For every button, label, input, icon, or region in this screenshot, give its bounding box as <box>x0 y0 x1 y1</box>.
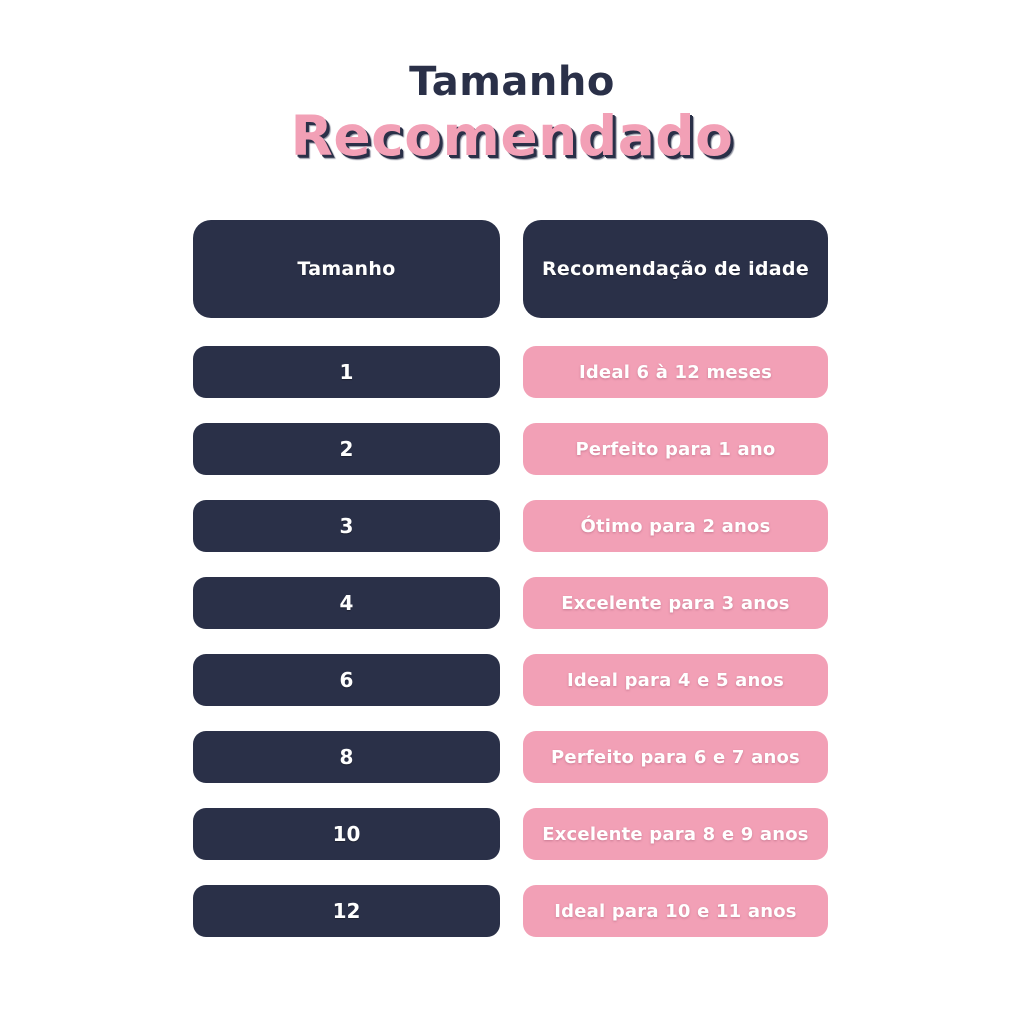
age-value: Excelente para 8 e 9 anos <box>542 824 808 845</box>
age-value: Ideal para 4 e 5 anos <box>567 670 784 691</box>
size-recommendation-table: Tamanho Recomendação de idade 1 Ideal 6 … <box>193 220 828 937</box>
table-row: 3 Ótimo para 2 anos <box>193 500 828 552</box>
size-value: 4 <box>340 591 354 615</box>
size-value: 10 <box>333 822 361 846</box>
age-value: Ideal 6 à 12 meses <box>579 362 772 383</box>
table-cell-size: 2 <box>193 423 500 475</box>
table-header-row: Tamanho Recomendação de idade <box>193 220 828 318</box>
table-cell-size: 3 <box>193 500 500 552</box>
age-value: Ideal para 10 e 11 anos <box>554 901 796 922</box>
table-cell-age: Perfeito para 1 ano <box>523 423 828 475</box>
title-line-secondary: Recomendado <box>0 106 1024 168</box>
table-cell-age: Excelente para 3 anos <box>523 577 828 629</box>
table-row: 8 Perfeito para 6 e 7 anos <box>193 731 828 783</box>
table-cell-age: Excelente para 8 e 9 anos <box>523 808 828 860</box>
size-guide-page: Tamanho Recomendado Tamanho Recomendação… <box>0 0 1024 1024</box>
table-cell-age: Ideal 6 à 12 meses <box>523 346 828 398</box>
size-value: 12 <box>333 899 361 923</box>
title-line-primary: Tamanho <box>0 62 1024 102</box>
size-value: 2 <box>340 437 354 461</box>
table-cell-size: 10 <box>193 808 500 860</box>
table-cell-size: 6 <box>193 654 500 706</box>
table-row: 2 Perfeito para 1 ano <box>193 423 828 475</box>
table-row: 1 Ideal 6 à 12 meses <box>193 346 828 398</box>
age-value: Perfeito para 6 e 7 anos <box>551 747 800 768</box>
table-header-size: Tamanho <box>193 220 500 318</box>
table-cell-size: 4 <box>193 577 500 629</box>
table-cell-age: Perfeito para 6 e 7 anos <box>523 731 828 783</box>
table-cell-size: 1 <box>193 346 500 398</box>
table-header-age-label: Recomendação de idade <box>542 258 809 280</box>
table-row: 12 Ideal para 10 e 11 anos <box>193 885 828 937</box>
table-cell-age: Ideal para 10 e 11 anos <box>523 885 828 937</box>
table-row: 10 Excelente para 8 e 9 anos <box>193 808 828 860</box>
table-cell-size: 8 <box>193 731 500 783</box>
age-value: Perfeito para 1 ano <box>576 439 776 460</box>
table-header-size-label: Tamanho <box>297 258 395 280</box>
size-value: 1 <box>340 360 354 384</box>
table-header-age: Recomendação de idade <box>523 220 828 318</box>
age-value: Excelente para 3 anos <box>561 593 789 614</box>
table-cell-age: Ótimo para 2 anos <box>523 500 828 552</box>
table-cell-size: 12 <box>193 885 500 937</box>
size-value: 3 <box>340 514 354 538</box>
age-value: Ótimo para 2 anos <box>580 516 770 537</box>
size-value: 8 <box>340 745 354 769</box>
page-title: Tamanho Recomendado <box>0 0 1024 168</box>
size-value: 6 <box>340 668 354 692</box>
table-row: 6 Ideal para 4 e 5 anos <box>193 654 828 706</box>
table-row: 4 Excelente para 3 anos <box>193 577 828 629</box>
table-cell-age: Ideal para 4 e 5 anos <box>523 654 828 706</box>
